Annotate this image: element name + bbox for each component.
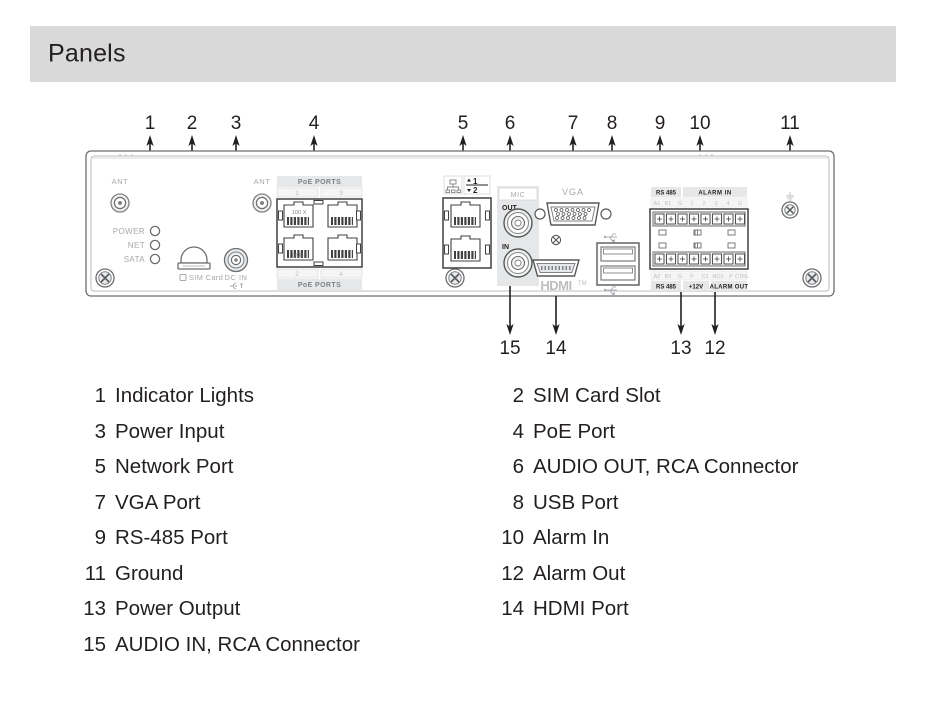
ant-right-label: ANT — [254, 177, 271, 186]
svg-text:3: 3 — [714, 201, 717, 207]
svg-text:A1: A1 — [654, 201, 661, 207]
svg-text:P: P — [729, 274, 733, 280]
top-callout-arrowheads — [146, 135, 793, 146]
legend-number: 5 — [78, 449, 106, 485]
legend-column-left: 1 Indicator Lights 3 Power Input 5 Netwo… — [78, 378, 508, 662]
callout-number-14: 14 — [545, 338, 567, 359]
poe-port-num-2: 2 — [295, 271, 299, 278]
callout-number-1: 1 — [145, 113, 156, 134]
poe-port-num-1: 1 — [295, 190, 299, 197]
legend-item-7: 7 VGA Port — [78, 485, 508, 521]
callout-number-13: 13 — [670, 338, 691, 359]
screw-bottom-left — [96, 269, 114, 287]
vga-label: VGA — [562, 187, 584, 197]
callout-number-11: 11 — [780, 113, 800, 134]
legend-item-3: 3 Power Input — [78, 414, 508, 450]
svg-text:A2: A2 — [654, 274, 661, 280]
svg-text:NO1: NO1 — [712, 274, 723, 280]
bottom-callout-arrowheads — [506, 324, 718, 335]
legend-item-2: 2 SIM Card Slot — [496, 378, 926, 414]
legend-number: 15 — [78, 627, 106, 663]
legend-item-8: 8 USB Port — [496, 485, 926, 521]
legend-label: PoE Port — [533, 414, 615, 450]
legend-item-5: 5 Network Port — [78, 449, 508, 485]
legend-label: SIM Card Slot — [533, 378, 661, 414]
rs485-bottom-label: RS 485 — [656, 285, 677, 291]
hdmi-screw — [551, 235, 560, 244]
bottom-callout-numbers: 15 14 13 12 — [499, 338, 725, 359]
page-root: Panels — [0, 0, 939, 720]
legend-number: 10 — [496, 520, 524, 556]
callout-number-15: 15 — [499, 338, 520, 359]
poe-port-num-4: 4 — [339, 271, 343, 278]
led-net-label: NET — [128, 241, 145, 250]
rca-jack-out — [504, 209, 532, 237]
ant-left-label: ANT — [112, 177, 129, 186]
poe-led-label-1: 100 X — [292, 210, 307, 216]
legend-item-15: 15 AUDIO IN, RCA Connector — [78, 627, 508, 663]
callout-number-3: 3 — [231, 113, 242, 134]
lan-port-down-label: 2 — [473, 186, 478, 195]
legend-number: 2 — [496, 378, 524, 414]
audio-rca-group: MIC OUT IN — [497, 186, 539, 286]
legend-item-11: 11 Ground — [78, 556, 508, 592]
screw-bottom-right — [803, 269, 821, 287]
callout-number-5: 5 — [458, 113, 469, 134]
screw-bottom-center — [446, 269, 464, 287]
legend-label: VGA Port — [115, 485, 200, 521]
legend-number: 12 — [496, 556, 524, 592]
legend-label: Alarm Out — [533, 556, 625, 592]
legend-number: 9 — [78, 520, 106, 556]
legend-number: 14 — [496, 591, 524, 627]
terminal-block-group: RS 485 ALARM IN A1 B1 G 1 2 3 4 G — [650, 187, 749, 291]
rear-panel-diagram: 1 2 3 4 5 6 7 8 9 10 11 — [0, 110, 939, 360]
legend-item-4: 4 PoE Port — [496, 414, 926, 450]
legend-item-1: 1 Indicator Lights — [78, 378, 508, 414]
mic-label: MIC — [511, 192, 526, 199]
poe-ports-top-label: PoE PORTS — [298, 179, 341, 186]
hdmi-wordmark: HDMI — [540, 278, 571, 293]
svg-text:C1: C1 — [701, 274, 708, 280]
vga-screw-right — [601, 209, 611, 219]
sim-card-label: SIM Card — [189, 273, 223, 282]
legend-number: 6 — [496, 449, 524, 485]
led-net-lamp — [150, 240, 159, 249]
callout-number-8: 8 — [607, 113, 618, 134]
alarm-out-label: ALARM OUT — [710, 285, 749, 291]
legend-item-10: 10 Alarm In — [496, 520, 926, 556]
terminal-row-top — [653, 212, 745, 226]
legend-label: HDMI Port — [533, 591, 629, 627]
svg-text:4: 4 — [726, 201, 729, 207]
legend-item-6: 6 AUDIO OUT, RCA Connector — [496, 449, 926, 485]
legend-number: 11 — [78, 556, 106, 592]
led-power-lamp — [150, 226, 159, 235]
svg-text:B2: B2 — [665, 274, 672, 280]
dc-in-label: DC IN — [225, 273, 248, 282]
alarm-in-label: ALARM IN — [698, 191, 731, 197]
legend-label: USB Port — [533, 485, 618, 521]
legend-label: Indicator Lights — [115, 378, 254, 414]
legend-label: Alarm In — [533, 520, 609, 556]
svg-text:CTRL: CTRL — [735, 274, 749, 280]
legend-label: AUDIO OUT, RCA Connector — [533, 449, 798, 485]
legend-label: AUDIO IN, RCA Connector — [115, 627, 360, 663]
rear-panel-svg: 1 2 3 4 5 6 7 8 9 10 11 — [0, 110, 939, 360]
callout-number-10: 10 — [689, 113, 710, 134]
legend-item-13: 13 Power Output — [78, 591, 508, 627]
legend-number: 4 — [496, 414, 524, 450]
svg-text:1: 1 — [690, 201, 693, 207]
hdmi-pins — [541, 266, 571, 270]
power-output-label: +12V — [689, 285, 703, 291]
lan-port-up-label: 1 — [473, 177, 478, 186]
top-callout-numbers: 1 2 3 4 5 6 7 8 9 10 11 — [145, 113, 800, 134]
callout-number-7: 7 — [568, 113, 579, 134]
callout-number-6: 6 — [505, 113, 516, 134]
terminal-bottom-pin-labels: A2 B2 G P C1 NO1 P CTRL — [654, 274, 750, 280]
vga-screw-left — [535, 209, 545, 219]
svg-text:P: P — [690, 274, 694, 280]
led-sata-lamp — [150, 254, 159, 263]
legend-label: Network Port — [115, 449, 233, 485]
legend-item-12: 12 Alarm Out — [496, 556, 926, 592]
legend-column-right: 2 SIM Card Slot 4 PoE Port 6 AUDIO OUT, … — [496, 378, 926, 627]
callout-number-4: 4 — [309, 113, 320, 134]
callout-number-9: 9 — [655, 113, 666, 134]
svg-text:2: 2 — [702, 201, 705, 207]
legend-item-9: 9 RS-485 Port — [78, 520, 508, 556]
legend-number: 3 — [78, 414, 106, 450]
svg-text:B1: B1 — [665, 201, 672, 207]
network-port-group: 1 2 — [443, 176, 491, 268]
section-header-bar: Panels — [30, 26, 896, 82]
legend-number: 8 — [496, 485, 524, 521]
svg-text:G: G — [678, 201, 682, 207]
legend-number: 13 — [78, 591, 106, 627]
legend-label: Power Input — [115, 414, 224, 450]
svg-text:G: G — [678, 274, 682, 280]
legend-label: Ground — [115, 556, 183, 592]
svg-text:G: G — [738, 201, 742, 207]
poe-led-label-2: QLGI — [292, 253, 306, 259]
legend-number: 1 — [78, 378, 106, 414]
rca-jack-in — [504, 249, 532, 277]
page-title: Panels — [48, 42, 126, 67]
led-power-label: POWER — [113, 227, 145, 236]
poe-ports-bottom-label: PoE PORTS — [298, 282, 341, 289]
legend-number: 7 — [78, 485, 106, 521]
terminal-row-bottom — [653, 252, 745, 266]
poe-port-num-3: 3 — [339, 190, 343, 197]
legend-item-14: 14 HDMI Port — [496, 591, 926, 627]
legend-label: Power Output — [115, 591, 240, 627]
callout-number-2: 2 — [187, 113, 198, 134]
hdmi-trademark-symbol: TM — [578, 281, 587, 287]
rs485-top-label: RS 485 — [656, 191, 677, 197]
legend-label: RS-485 Port — [115, 520, 228, 556]
callout-number-12: 12 — [704, 338, 725, 359]
audio-in-label: IN — [502, 244, 509, 251]
led-sata-label: SATA — [124, 255, 146, 264]
